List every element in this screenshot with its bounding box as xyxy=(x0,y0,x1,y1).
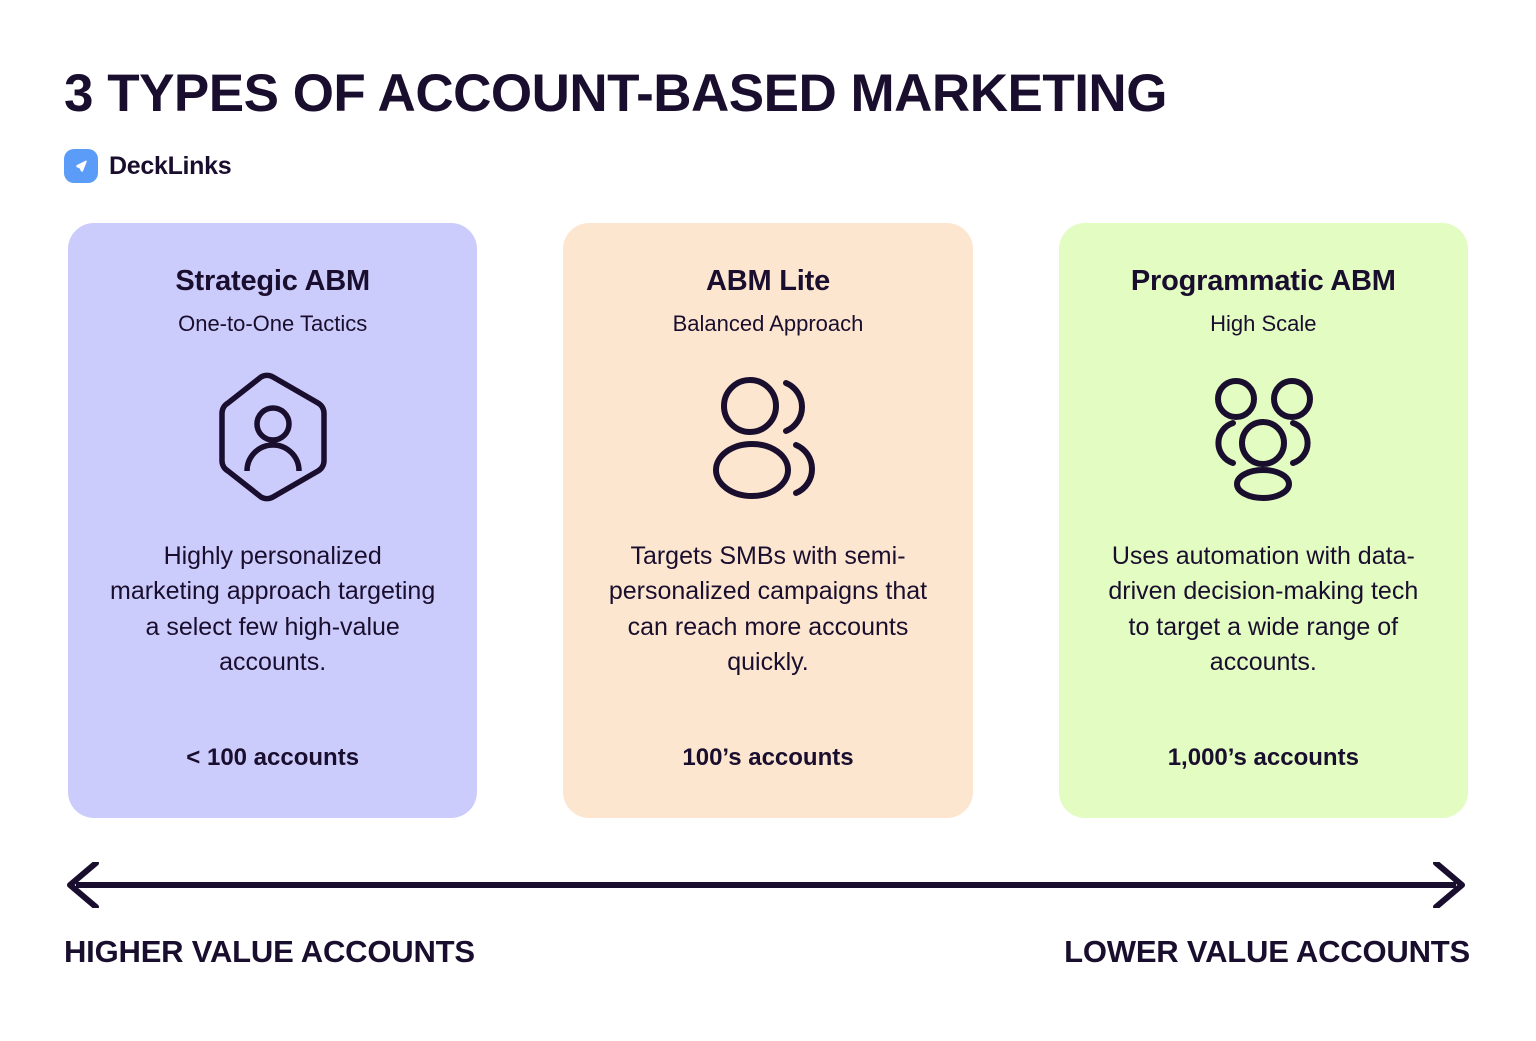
play-triangle-icon xyxy=(64,149,98,183)
card-metric: 100’s accounts xyxy=(563,744,972,772)
people-group-icon xyxy=(1200,372,1326,502)
card-abm-lite: ABM Lite Balanced Approach Targets SMBs … xyxy=(563,223,972,818)
card-subtitle: High Scale xyxy=(1210,311,1316,337)
card-description: Highly personalized marketing approach t… xyxy=(108,539,438,681)
card-title: Strategic ABM xyxy=(175,265,370,298)
card-metric: < 100 accounts xyxy=(68,744,477,772)
card-subtitle: One-to-One Tactics xyxy=(178,311,367,337)
card-metric: 1,000’s accounts xyxy=(1059,744,1468,772)
double-headed-arrow-icon xyxy=(64,862,1468,908)
hexagon-person-icon xyxy=(214,372,332,502)
card-description: Targets SMBs with semi-personalized camp… xyxy=(603,539,933,681)
two-people-icon xyxy=(708,372,828,502)
card-programmatic-abm: Programmatic ABM High Scale Uses automat… xyxy=(1059,223,1468,818)
abm-type-cards: Strategic ABM One-to-One Tactics Highly … xyxy=(68,223,1468,818)
scale-labels: HIGHER VALUE ACCOUNTS LOWER VALUE ACCOUN… xyxy=(64,934,1470,970)
brand-name: DeckLinks xyxy=(109,152,231,181)
card-title: ABM Lite xyxy=(706,265,830,298)
brand-logo: DeckLinks xyxy=(64,149,231,183)
card-strategic-abm: Strategic ABM One-to-One Tactics Highly … xyxy=(68,223,477,818)
card-title: Programmatic ABM xyxy=(1131,265,1396,298)
scale-label-higher-value: HIGHER VALUE ACCOUNTS xyxy=(64,934,475,970)
scale-label-lower-value: LOWER VALUE ACCOUNTS xyxy=(1064,934,1470,970)
card-description: Uses automation with data-driven decisio… xyxy=(1098,539,1428,681)
card-subtitle: Balanced Approach xyxy=(673,311,864,337)
page-title: 3 TYPES OF ACCOUNT-BASED MARKETING xyxy=(64,66,1167,122)
